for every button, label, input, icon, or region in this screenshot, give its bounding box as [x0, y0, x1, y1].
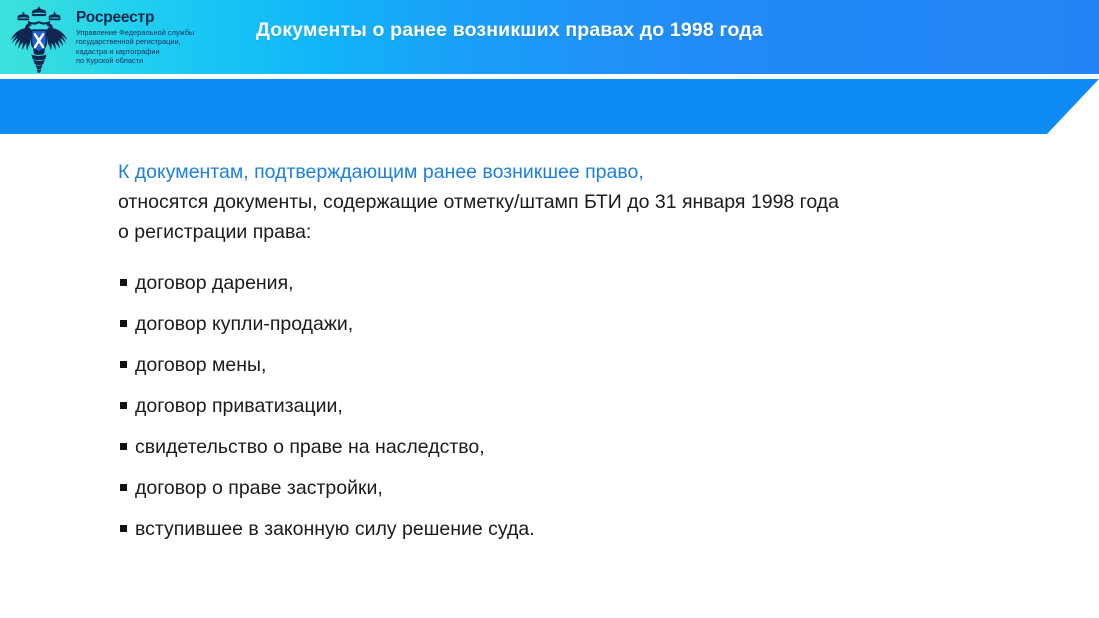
- intro-line-2: относятся документы, содержащие отметку/…: [118, 187, 1038, 217]
- org-subtitle-line-4: по Курской области: [76, 56, 194, 66]
- slide-title: Документы о ранее возникших правах до 19…: [256, 19, 856, 42]
- slide-root: { "header": { "title": "Документы о ране…: [0, 0, 1099, 618]
- square-bullet-icon: [120, 402, 127, 409]
- list-item: вступившее в законную силу решение суда.: [120, 516, 1060, 557]
- list-item: договор мены,: [120, 352, 1060, 393]
- header-band-divider: [0, 74, 1099, 79]
- intro-line-1: К документам, подтверждающим ранее возни…: [118, 157, 1038, 187]
- documents-list: договор дарения, договор купли-продажи, …: [120, 270, 1060, 557]
- list-item: договор купли-продажи,: [120, 311, 1060, 352]
- intro-line-3: о регистрации права:: [118, 217, 1038, 247]
- list-item: договор дарения,: [120, 270, 1060, 311]
- list-item: свидетельство о праве на наследство,: [120, 434, 1060, 475]
- logo-text-block: Росреестр Управление Федеральной службы …: [76, 10, 194, 66]
- square-bullet-icon: [120, 484, 127, 491]
- list-item-label: свидетельство о праве на наследство,: [135, 436, 485, 458]
- header-accent-band: [0, 79, 1099, 134]
- list-item-label: договор приватизации,: [135, 395, 343, 417]
- rosreestr-logo: Росреестр Управление Федеральной службы …: [6, 2, 192, 74]
- square-bullet-icon: [120, 320, 127, 327]
- list-item-label: договор дарения,: [135, 272, 294, 294]
- org-subtitle-line-1: Управление Федеральной службы: [76, 28, 194, 38]
- square-bullet-icon: [120, 279, 127, 286]
- square-bullet-icon: [120, 525, 127, 532]
- list-item-label: договор о праве застройки,: [135, 477, 383, 499]
- list-item-label: договор мены,: [135, 354, 266, 376]
- square-bullet-icon: [120, 361, 127, 368]
- list-item: договор приватизации,: [120, 393, 1060, 434]
- list-item-label: договор купли-продажи,: [135, 313, 353, 335]
- slide-content: К документам, подтверждающим ранее возни…: [0, 134, 1099, 618]
- slide-header: Росреестр Управление Федеральной службы …: [0, 0, 1099, 134]
- square-bullet-icon: [120, 443, 127, 450]
- org-subtitle-line-3: кадастра и картографии: [76, 47, 194, 57]
- russian-coat-of-arms-eagle-icon: [6, 3, 72, 73]
- org-name: Росреестр: [76, 10, 194, 26]
- list-item: договор о праве застройки,: [120, 475, 1060, 516]
- intro-paragraph: К документам, подтверждающим ранее возни…: [118, 157, 1038, 247]
- org-subtitle-line-2: государственной регистрации,: [76, 37, 194, 47]
- list-item-label: вступившее в законную силу решение суда.: [135, 518, 535, 540]
